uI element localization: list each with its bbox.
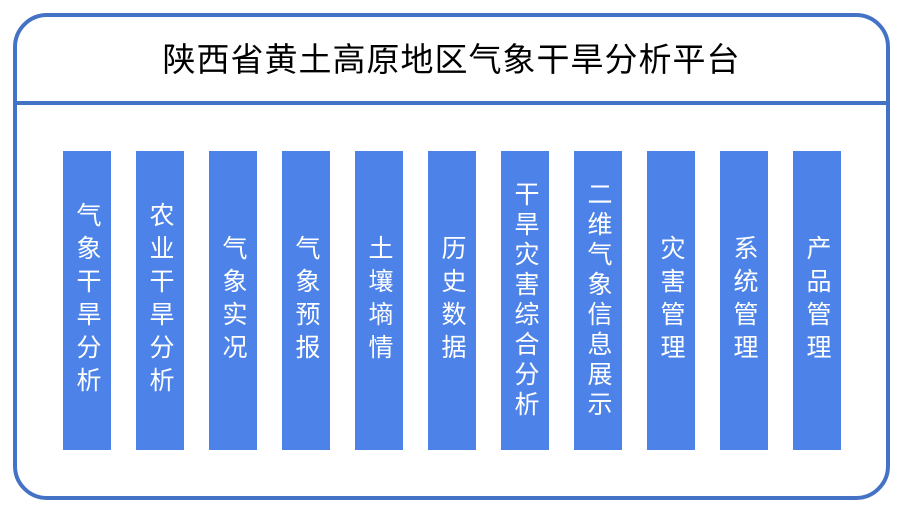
menu-bar-label: 干旱灾害综合分析 <box>512 181 537 421</box>
menu-bar-label: 土壤墒情 <box>366 235 391 367</box>
menu-bar-disaster-management[interactable]: 灾害管理 <box>647 151 695 450</box>
menu-bar-weather-forecast[interactable]: 气象预报 <box>282 151 330 450</box>
menu-bar-label: 气象实况 <box>220 235 245 367</box>
menu-bar-label: 历史数据 <box>439 235 464 367</box>
menu-bar-label: 气象干旱分析 <box>74 202 99 400</box>
menu-bar-label: 系统管理 <box>731 235 756 367</box>
menu-bar-2d-weather-information-display[interactable]: 二维气象信息展示 <box>574 151 622 450</box>
menu-bar-label: 灾害管理 <box>658 235 683 367</box>
menu-bar-historical-data[interactable]: 历史数据 <box>428 151 476 450</box>
menu-bar-drought-disaster-comprehensive-analysis[interactable]: 干旱灾害综合分析 <box>501 151 549 450</box>
menu-bar-product-management[interactable]: 产品管理 <box>793 151 841 450</box>
menu-bar-strip: 气象干旱分析 农业干旱分析 气象实况 气象预报 土壤墒情 历史数据 干旱灾害综合… <box>17 105 886 496</box>
menu-bar-label: 二维气象信息展示 <box>585 181 610 421</box>
menu-bar-soil-moisture[interactable]: 土壤墒情 <box>355 151 403 450</box>
menu-bar-weather-observation[interactable]: 气象实况 <box>209 151 257 450</box>
application-frame: 陕西省黄土高原地区气象干旱分析平台 气象干旱分析 农业干旱分析 气象实况 气象预… <box>13 13 890 500</box>
menu-bar-agricultural-drought-analysis[interactable]: 农业干旱分析 <box>136 151 184 450</box>
page-title: 陕西省黄土高原地区气象干旱分析平台 <box>163 43 741 76</box>
title-bar: 陕西省黄土高原地区气象干旱分析平台 <box>17 17 886 105</box>
menu-bar-system-management[interactable]: 系统管理 <box>720 151 768 450</box>
menu-bar-meteorological-drought-analysis[interactable]: 气象干旱分析 <box>63 151 111 450</box>
menu-bar-label: 产品管理 <box>804 235 829 367</box>
menu-bar-label: 农业干旱分析 <box>147 202 172 400</box>
menu-bar-label: 气象预报 <box>293 235 318 367</box>
